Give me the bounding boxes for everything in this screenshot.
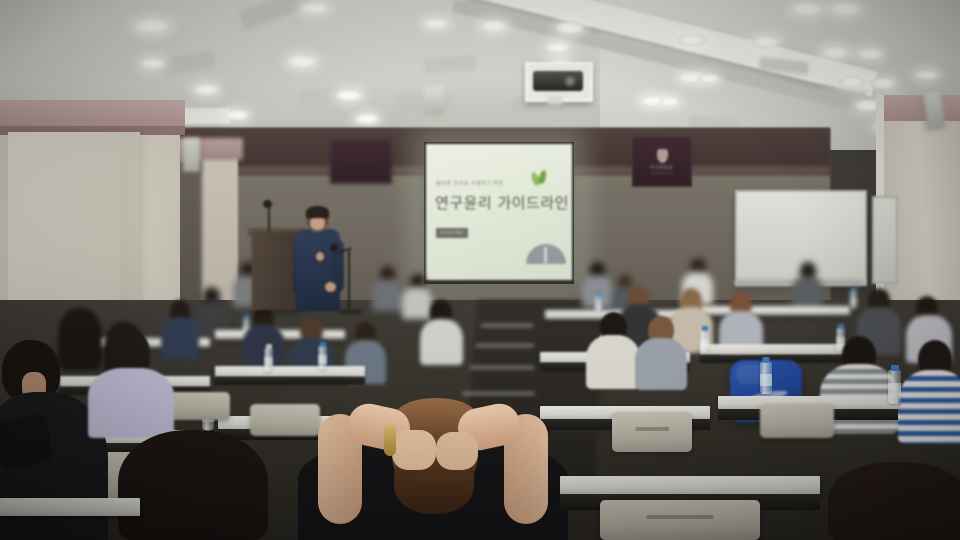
ceiling-downlight — [480, 20, 508, 32]
chair[interactable] — [760, 404, 834, 438]
water-bottle — [700, 330, 709, 353]
aisle-step — [470, 366, 534, 369]
person-long-hair — [58, 308, 102, 370]
podium-microphone-icon — [263, 200, 272, 208]
wall-speaker-left — [183, 138, 200, 172]
person-torso — [161, 317, 199, 359]
bottle-label — [595, 304, 602, 310]
ceiling-downlight — [556, 22, 584, 34]
ceiling-downlight — [423, 18, 449, 29]
desk — [0, 498, 140, 516]
chair[interactable] — [600, 500, 760, 540]
chair[interactable] — [250, 404, 320, 436]
ceiling-downlight — [660, 97, 680, 106]
slide-subtitle: 올바른 연구를 수행하기 위한 — [436, 180, 504, 187]
ceiling-downlight — [915, 70, 939, 80]
slide-title: 연구윤리 가이드라인 — [435, 192, 569, 213]
ceiling-downlight — [287, 55, 317, 68]
aisle-step — [481, 324, 533, 327]
ceiling-downlight — [300, 2, 330, 14]
ceiling-downlight — [193, 84, 219, 95]
bottle-cap — [320, 342, 326, 347]
ceiling-speaker — [424, 86, 444, 116]
water-bottle — [850, 290, 857, 309]
microphone-stand-base — [338, 310, 362, 314]
ceiling-downlight — [225, 110, 249, 120]
presenter-face — [310, 216, 325, 230]
microphone-icon — [330, 244, 338, 251]
bottle-label — [888, 383, 901, 396]
person-torso-striped — [898, 370, 960, 444]
right-column-cap — [880, 95, 960, 121]
bottle-cap — [891, 365, 899, 371]
ceiling-downlight — [678, 34, 706, 46]
ceiling-downlight — [545, 42, 571, 53]
projector-mount — [548, 96, 562, 105]
chair-handle-slot — [635, 427, 669, 431]
bottle-cap — [244, 315, 249, 319]
projector-lens-icon — [564, 75, 576, 87]
podium-microphone-stem — [268, 206, 270, 232]
foreground-person-long-hair — [118, 430, 268, 540]
bottle-cap — [266, 344, 272, 349]
chair-handle-slot — [646, 515, 713, 519]
leaf-icon — [537, 169, 548, 184]
aisle-step — [462, 392, 534, 395]
lecture-hall-photo: — — — KOREA UNIVERSITY 올바른 연구를 수행하기 위한 연… — [0, 0, 960, 540]
ceiling-downlight — [752, 36, 780, 48]
ceiling-downlight — [140, 58, 166, 69]
wall-banner-right-subtext: UNIVERSITY — [650, 171, 673, 175]
person-torso — [402, 287, 432, 319]
projection-screen: 올바른 연구를 수행하기 위한 연구윤리 가이드라인 한국연구재단 — [426, 144, 572, 280]
ceiling-downlight — [838, 76, 866, 88]
water-bottle — [760, 362, 772, 394]
presenter-hand — [325, 282, 336, 292]
bracelet — [384, 424, 396, 456]
leaf-logo-icon — [530, 170, 552, 192]
foreground-person-right — [828, 462, 960, 540]
desk — [700, 306, 850, 315]
bottle-label — [318, 355, 327, 364]
bottle-label — [760, 374, 772, 386]
person-torso — [792, 276, 823, 310]
bottle-label — [850, 298, 857, 305]
desk — [215, 366, 365, 377]
person-hand-left — [392, 430, 436, 470]
wall-banner-right: KOREA UNIVERSITY — [632, 137, 692, 187]
ceiling-downlight — [355, 114, 379, 124]
chair[interactable] — [612, 412, 692, 452]
bottle-label — [264, 357, 273, 366]
ceiling-downlight — [828, 2, 862, 16]
bottle-cap — [763, 357, 770, 363]
wall-banner-left-text: — — — — [351, 159, 372, 165]
shield-crest-icon — [657, 149, 668, 163]
bottle-cap — [851, 287, 856, 291]
person-torso — [88, 368, 174, 438]
microphone-stand — [348, 250, 350, 312]
presenter-hair — [306, 206, 329, 218]
whiteboard-secondary — [872, 196, 898, 284]
person-torso — [420, 319, 463, 365]
bottle-cap — [596, 293, 601, 297]
presenter-hand-mic — [316, 252, 324, 261]
chair[interactable] — [168, 392, 230, 420]
person-torso — [635, 338, 687, 390]
bottle-cap — [838, 324, 844, 329]
desk — [560, 476, 820, 494]
ceiling-downlight — [870, 78, 896, 89]
water-bottle — [595, 296, 602, 314]
water-bottle — [264, 348, 273, 372]
person-torso — [372, 279, 402, 311]
wall-banner-left: — — — — [330, 140, 392, 184]
dome-graphic-detail — [544, 247, 547, 263]
person-torso — [586, 335, 640, 389]
bottle-cap — [702, 326, 708, 331]
ceiling-downlight — [790, 2, 824, 16]
water-bottle — [318, 346, 327, 370]
ceiling-downlight — [336, 90, 362, 101]
person-hand-right — [436, 432, 478, 470]
ceiling-downlight — [820, 46, 850, 59]
slide-badge: 한국연구재단 — [436, 228, 468, 238]
ceiling-downlight — [856, 48, 884, 60]
ceiling-downlight — [698, 74, 720, 83]
aisle-step — [476, 344, 534, 347]
ceiling-downlight — [133, 18, 171, 34]
water-bottle — [888, 370, 901, 404]
bottle-label — [700, 339, 709, 348]
desk-front-panel — [215, 377, 365, 385]
